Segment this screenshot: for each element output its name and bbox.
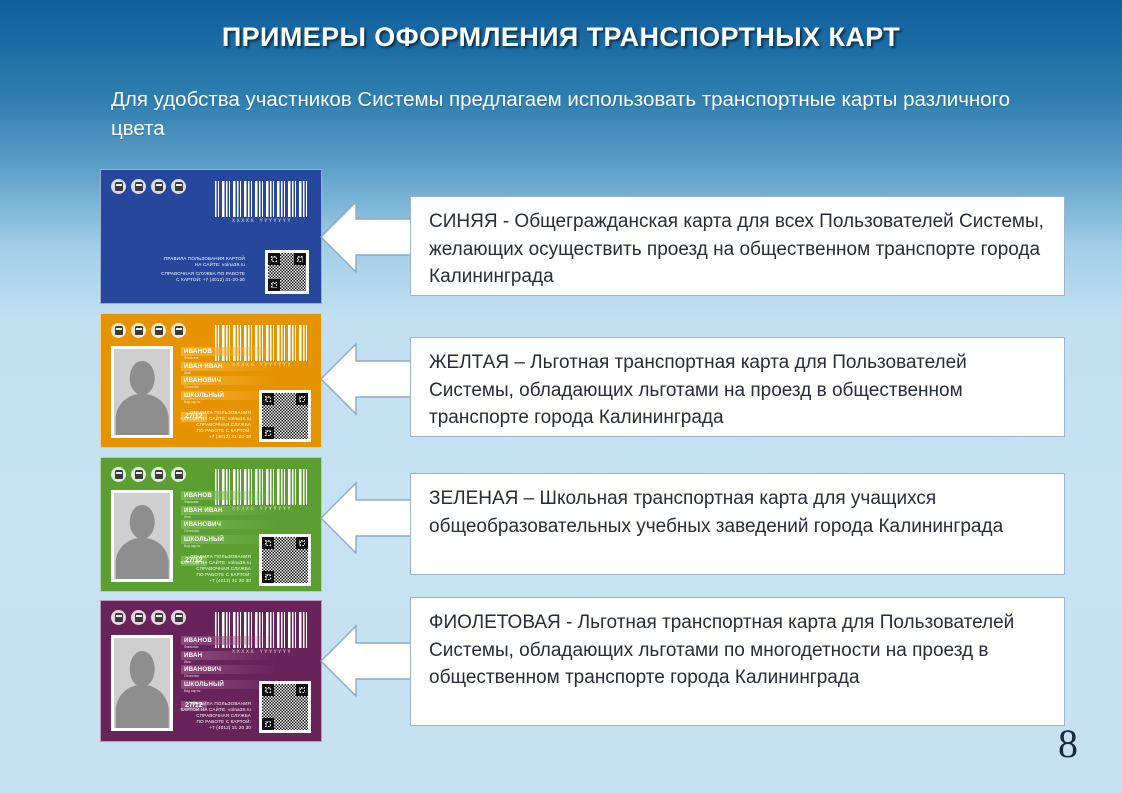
barcode-icon (215, 181, 309, 217)
transport-card-yellow: XXXXX YYYYYYY ИВАНОВ Фамилия ИВАН ИВАН И… (100, 313, 322, 448)
field-label: Отчество (181, 529, 277, 534)
legal-line: +7 (4012) 31 20 30 (143, 578, 251, 584)
field-value: ИВАН (181, 651, 277, 660)
tram-icon (131, 323, 146, 338)
train-icon (171, 610, 186, 625)
trolleybus-icon (151, 610, 166, 625)
field-label: Имя (181, 660, 277, 665)
field-value: ИВАНОВ (181, 491, 277, 500)
page-subtitle: Для удобства участников Системы предлага… (111, 85, 1051, 143)
train-icon (171, 179, 186, 194)
slide-canvas: ПРИМЕРЫ ОФОРМЛЕНИЯ ТРАНСПОРТНЫХ КАРТ Для… (0, 0, 1122, 793)
transport-icon-row (111, 610, 186, 625)
barcode-number: XXXXX YYYYYYY (215, 218, 309, 224)
train-icon (171, 467, 186, 482)
field-lastname: ИВАНОВ Фамилия (181, 491, 277, 505)
bus-icon (111, 467, 126, 482)
yellow-description-text: ЖЕЛТАЯ – Льготная транспортная карта для… (429, 352, 967, 428)
field-value: ИВАНОВИЧ (181, 665, 277, 674)
field-lastname: ИВАНОВ Фамилия (181, 347, 277, 361)
violet-description-text: ФИОЛЕТОВАЯ - Льготная транспортная карта… (429, 612, 1014, 688)
train-icon (171, 323, 186, 338)
violet-description-box: ФИОЛЕТОВАЯ - Льготная транспортная карта… (410, 597, 1065, 726)
tram-icon (131, 179, 146, 194)
field-patronymic: ИВАНОВИЧ Отчество (181, 665, 277, 679)
field-patronymic: ИВАНОВИЧ Отчество (181, 520, 277, 534)
qr-code-icon (259, 390, 311, 442)
trolleybus-icon (151, 467, 166, 482)
qr-code-icon (259, 681, 311, 733)
field-value: ИВАНОВИЧ (181, 376, 277, 385)
yellow-description-box: ЖЕЛТАЯ – Льготная транспортная карта для… (410, 337, 1065, 437)
trolleybus-icon (151, 179, 166, 194)
bus-icon (111, 323, 126, 338)
field-value: ИВАН ИВАН (181, 506, 277, 515)
left-arrow-icon-3 (320, 481, 415, 555)
trolleybus-icon (151, 323, 166, 338)
tram-icon (131, 467, 146, 482)
green-description-text: ЗЕЛЕНАЯ – Школьная транспортная карта дл… (429, 488, 1003, 537)
left-arrow-icon-4 (320, 624, 415, 698)
transport-card-green: XXXXX YYYYYYY ИВАНОВ Фамилия ИВАН ИВАН И… (100, 457, 322, 592)
transport-icon-row (111, 323, 186, 338)
bus-icon (111, 610, 126, 625)
field-value: ИВАНОВ (181, 347, 277, 356)
green-description-box: ЗЕЛЕНАЯ – Школьная транспортная карта дл… (410, 473, 1065, 575)
transport-icon-row (111, 179, 186, 194)
tram-icon (131, 610, 146, 625)
card-legal-text: ПРАВИЛА ПОЛЬЗОВАНИЯ КАРТОЙ НА САЙТЕ: vol… (143, 554, 251, 584)
page-number: 8 (1058, 720, 1078, 767)
transport-icon-row (111, 467, 186, 482)
legal-line: С КАРТОЙ: +7 (4012) 31-20-30 (127, 277, 245, 283)
card-legal-text: ПРАВИЛА ПОЛЬЗОВАНИЯ КАРТОЙ НА САЙТЕ: vol… (143, 410, 251, 440)
transport-card-violet: XXXXX YYYYYYY ИВАНОВ Фамилия ИВАН Имя ИВ… (100, 600, 322, 742)
field-value: ИВАНОВИЧ (181, 520, 277, 529)
blue-description-box: СИНЯЯ - Общегражданская карта для всех П… (410, 196, 1065, 296)
card-legal-text: ПРАВИЛА ПОЛЬЗОВАНИЯ КАРТОЙ НА САЙТЕ: vol… (127, 256, 245, 283)
field-label: Отчество (181, 674, 277, 679)
field-patronymic: ИВАНОВИЧ Отчество (181, 376, 277, 390)
field-label: Имя (181, 515, 277, 520)
field-value: ИВАН ИВАН (181, 362, 277, 371)
legal-line: +7 (4012) 31 20 30 (143, 725, 251, 731)
field-firstname: ИВАН Имя (181, 651, 277, 665)
left-arrow-icon-2 (320, 342, 415, 416)
card-legal-text: ПРАВИЛА ПОЛЬЗОВАНИЯ КАРТОЙ НА САЙТЕ: vol… (143, 701, 251, 731)
blue-description-text: СИНЯЯ - Общегражданская карта для всех П… (429, 211, 1044, 287)
qr-code-icon (265, 250, 309, 294)
field-firstname: ИВАН ИВАН Имя (181, 506, 277, 520)
left-arrow-icon-1 (320, 200, 415, 274)
bus-icon (111, 179, 126, 194)
field-label: Фамилия (181, 645, 277, 650)
transport-card-blue: XXXXX YYYYYYY ПРАВИЛА ПОЛЬЗОВАНИЯ КАРТОЙ… (100, 169, 322, 304)
field-label: Фамилия (181, 500, 277, 505)
field-firstname: ИВАН ИВАН Имя (181, 362, 277, 376)
legal-line: +7 (4012) 31-20-30 (143, 434, 251, 440)
field-label: Имя (181, 371, 277, 376)
field-label: Фамилия (181, 356, 277, 361)
qr-code-icon (259, 534, 311, 586)
field-lastname: ИВАНОВ Фамилия (181, 636, 277, 650)
field-label: Отчество (181, 385, 277, 390)
page-title: ПРИМЕРЫ ОФОРМЛЕНИЯ ТРАНСПОРТНЫХ КАРТ (0, 22, 1122, 53)
field-value: ИВАНОВ (181, 636, 277, 645)
